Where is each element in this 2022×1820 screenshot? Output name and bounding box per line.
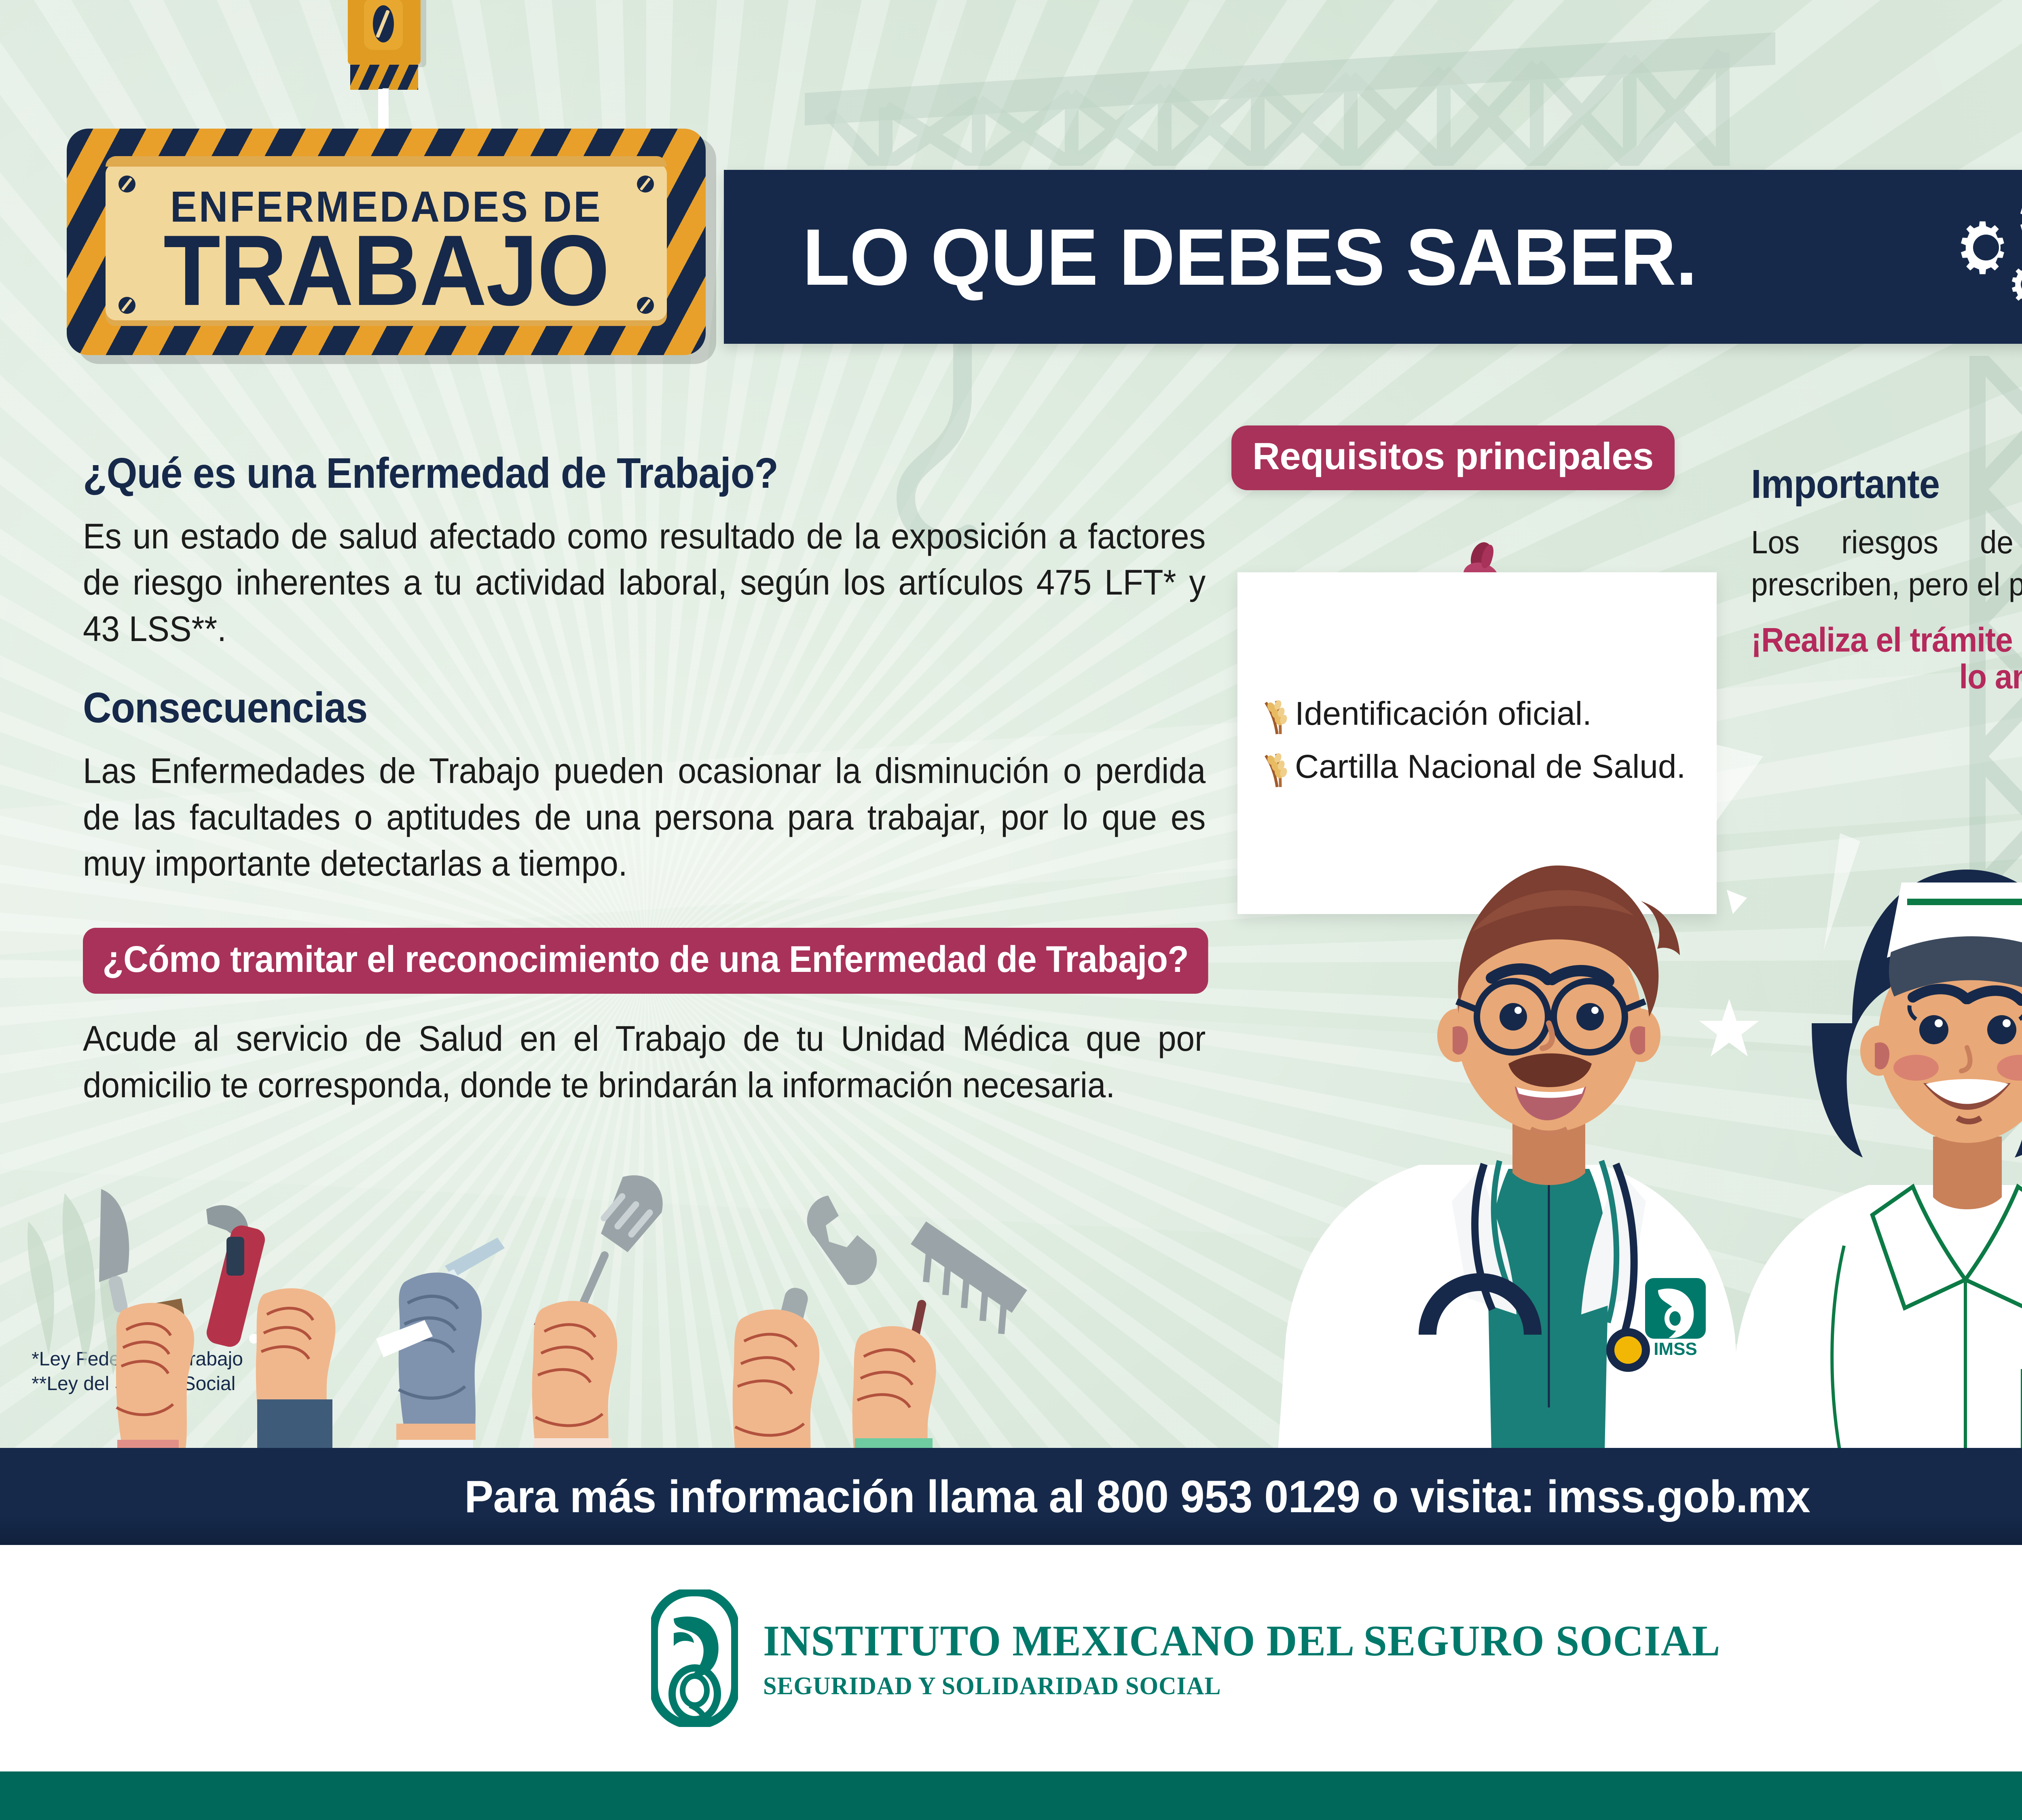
nurse-illustration: IMSS	[1728, 870, 2022, 1452]
title-sign: ENFERMEDADES DE TRABAJO	[67, 129, 706, 355]
footer-contact-bar: Para más información llama al 800 953 01…	[0, 1448, 2022, 1545]
doctor-illustration: IMSS	[1278, 866, 1743, 1452]
health-staff-illustration: IMSS	[1229, 740, 2022, 1452]
paragraph-importante: Los riesgos de trabajo no prescriben, pe…	[1751, 521, 2022, 605]
imss-tagline: SEGURIDAD Y SOLIDARIDAD SOCIAL	[763, 1672, 1720, 1701]
infographic-poster: ENFERMEDADES DE TRABAJO LO QUE DEBES SAB…	[0, 0, 2022, 1820]
page-title: LO QUE DEBES SABER.	[802, 211, 1697, 303]
svg-text:IMSS: IMSS	[1654, 1339, 1697, 1359]
list-item: Identificación oficial.	[1261, 694, 1701, 744]
header-bar: LO QUE DEBES SABER.	[724, 170, 2022, 344]
logo-band: INSTITUTO MEXICANO DEL SEGURO SOCIAL SEG…	[0, 1545, 2022, 1771]
list-item-label: Identificación oficial.	[1295, 694, 1592, 734]
paragraph-consecuencias: Las Enfermedades de Trabajo pueden ocasi…	[83, 748, 1206, 887]
crane-truss-decoration	[805, 0, 1775, 166]
workers-hands-tools-illustration	[16, 1165, 1051, 1456]
left-content-column: ¿Qué es una Enfermedad de Trabajo? Es un…	[83, 449, 1211, 1108]
title-line-2: TRABAJO	[125, 224, 647, 316]
importante-column: Importante Los riesgos de trabajo no pre…	[1751, 461, 2022, 695]
imss-name: INSTITUTO MEXICANO DEL SEGURO SOCIAL	[763, 1616, 1720, 1666]
bottom-green-strip	[0, 1771, 2022, 1820]
heading-consecuencias: Consecuencias	[83, 684, 1121, 732]
imss-logo: INSTITUTO MEXICANO DEL SEGURO SOCIAL SEG…	[651, 1589, 1750, 1727]
wheat-icon	[1261, 696, 1291, 744]
imss-logo-text: INSTITUTO MEXICANO DEL SEGURO SOCIAL SEG…	[763, 1616, 1750, 1701]
heading-que-es: ¿Qué es una Enfermedad de Trabajo?	[83, 449, 1121, 498]
cta-line-2: lo antes posible!	[1751, 658, 2022, 695]
gears-icon	[1943, 182, 2022, 315]
footer-contact-text: Para más información llama al 800 953 01…	[465, 1471, 1810, 1523]
cta-line-1: ¡Realiza el trámite	[1751, 621, 2013, 659]
heading-importante: Importante	[1751, 461, 2022, 508]
paragraph-acude: Acude al servicio de Salud en el Trabajo…	[83, 1016, 1206, 1108]
requisitos-chip: Requisitos principales	[1231, 425, 1675, 490]
imss-eagle-logo-icon	[651, 1589, 738, 1727]
paragraph-que-es: Es un estado de salud afectado como resu…	[83, 513, 1206, 652]
title-sign-plate: ENFERMEDADES DE TRABAJO	[106, 163, 667, 326]
banner-como-tramitar: ¿Cómo tramitar el reconocimiento de una …	[83, 928, 1208, 994]
cta-realiza-tramite: ¡Realiza el trámite lo antes posible!	[1751, 622, 2022, 695]
